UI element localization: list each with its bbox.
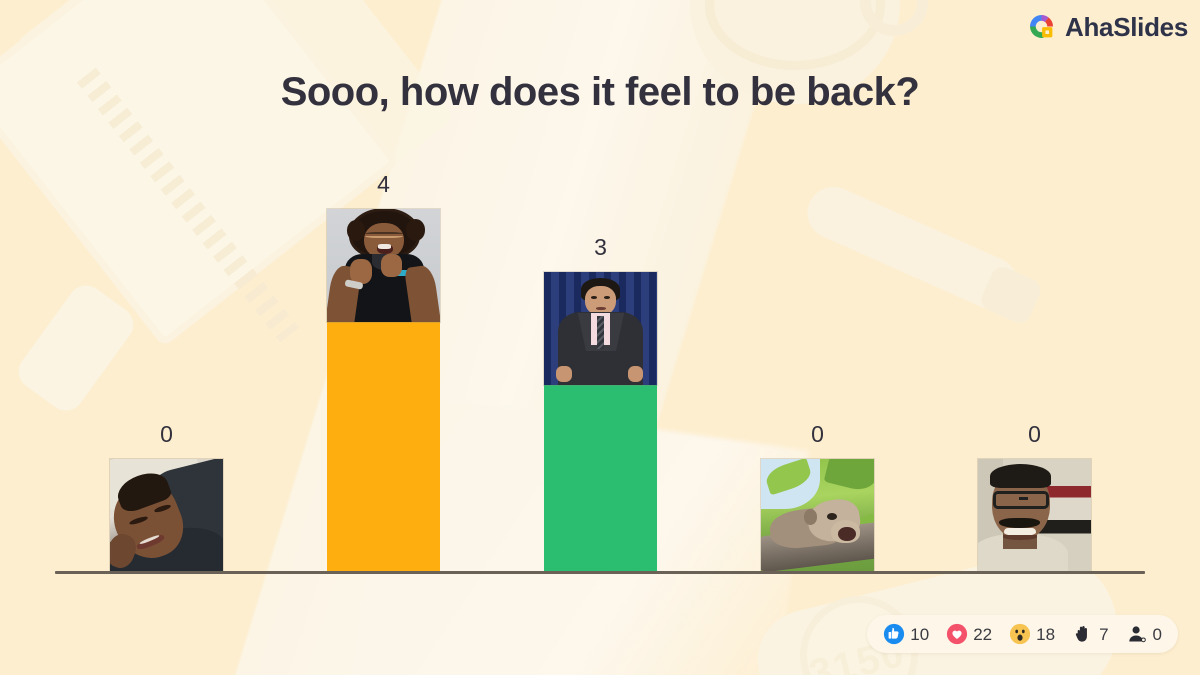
talk-show-host-thumbnail	[544, 272, 657, 385]
poll-result-slide: 3150 AhaSlides Sooo, how does it feel to…	[0, 0, 1200, 675]
bar-value-label: 0	[160, 423, 173, 446]
reaction-count: 0	[1153, 626, 1162, 643]
sleeping-man-meme-thumbnail	[110, 459, 223, 572]
reaction-love[interactable]: 22	[946, 623, 992, 645]
yawning-monkey-thumbnail	[761, 459, 874, 572]
bar-value-label: 0	[811, 423, 824, 446]
chart-bar-1[interactable]: 0	[110, 102, 223, 572]
poll-bar-chart: 0 4	[0, 0, 1200, 675]
reaction-raise-hand[interactable]: 7	[1072, 623, 1108, 645]
participant-icon	[1126, 623, 1148, 645]
reaction-participants[interactable]: 0	[1126, 623, 1162, 645]
surprised-face-icon	[1009, 623, 1031, 645]
bar-fill	[544, 385, 657, 573]
reaction-like[interactable]: 10	[883, 623, 929, 645]
bar-fill	[327, 322, 440, 572]
reaction-count: 22	[973, 626, 992, 643]
bar-value-label: 3	[594, 236, 607, 259]
chart-bar-5[interactable]: 0	[978, 102, 1091, 572]
reaction-bar: 10 22 18 7	[867, 615, 1178, 653]
chart-bar-3[interactable]: 3	[544, 102, 657, 572]
chart-bar-2[interactable]: 4	[327, 102, 440, 572]
excited-woman-thumbnail	[327, 209, 440, 322]
thumbs-up-icon	[883, 623, 905, 645]
chart-baseline	[55, 571, 1145, 574]
reaction-count: 10	[910, 626, 929, 643]
reaction-count: 18	[1036, 626, 1055, 643]
bar-value-label: 4	[377, 173, 390, 196]
heart-icon	[946, 623, 968, 645]
reaction-count: 7	[1099, 626, 1108, 643]
chart-bar-4[interactable]: 0	[761, 102, 874, 572]
smiling-man-glasses-thumbnail	[978, 459, 1091, 572]
reaction-wow[interactable]: 18	[1009, 623, 1055, 645]
bar-value-label: 0	[1028, 423, 1041, 446]
raised-hand-icon	[1072, 623, 1094, 645]
